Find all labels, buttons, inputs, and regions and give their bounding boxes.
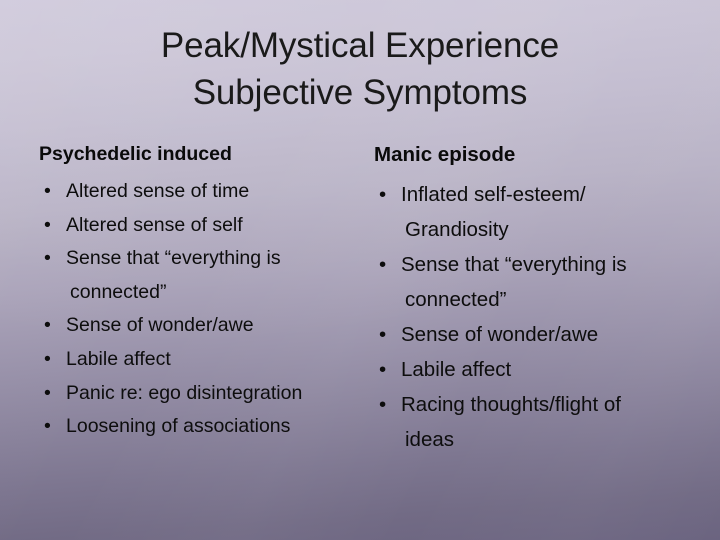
list-item-line-1: Inflated self-esteem/: [401, 183, 586, 206]
list-item-text: Sense of wonder/awe: [401, 317, 699, 352]
list-item-line-2: Grandiosity: [401, 212, 699, 247]
list-item-line-2: connected”: [401, 282, 699, 317]
slide-title: Peak/Mystical Experience Subjective Symp…: [40, 22, 680, 116]
column-header-right: Manic episode: [374, 142, 699, 167]
bullet-dot-icon: •: [44, 242, 51, 276]
bullet-dot-icon: •: [379, 247, 386, 282]
column-psychedelic-induced: Psychedelic induced • Altered sense of t…: [39, 142, 359, 444]
bullet-dot-icon: •: [44, 175, 51, 209]
list-item-text: Labile affect: [401, 352, 699, 387]
list-item-text: Loosening of associations: [66, 410, 359, 444]
bullet-list-right: • Inflated self-esteem/ Grandiosity • Se…: [374, 177, 699, 457]
list-item: • Labile affect: [39, 343, 359, 377]
bullet-dot-icon: •: [379, 177, 386, 212]
list-item: • Sense that “everything is connected”: [374, 247, 699, 317]
bullet-dot-icon: •: [379, 387, 386, 422]
list-item: • Inflated self-esteem/ Grandiosity: [374, 177, 699, 247]
bullet-dot-icon: •: [44, 309, 51, 343]
column-header-left: Psychedelic induced: [39, 142, 359, 166]
list-item-text: Altered sense of self: [66, 209, 359, 243]
list-item: • Altered sense of self: [39, 209, 359, 243]
slide-canvas: Peak/Mystical Experience Subjective Symp…: [0, 0, 720, 540]
bullet-dot-icon: •: [379, 317, 386, 352]
list-item: • Sense of wonder/awe: [374, 317, 699, 352]
bullet-dot-icon: •: [44, 377, 51, 411]
list-item: • Altered sense of time: [39, 175, 359, 209]
list-item-text: Inflated self-esteem/ Grandiosity: [401, 177, 699, 247]
list-item-text: Sense that “everything is connected”: [401, 247, 699, 317]
list-item-text: Labile affect: [66, 343, 359, 377]
list-item: • Racing thoughts/flight of ideas: [374, 387, 699, 457]
list-item-line-2: ideas: [401, 422, 699, 457]
list-item: • Loosening of associations: [39, 410, 359, 444]
column-manic-episode: Manic episode • Inflated self-esteem/ Gr…: [374, 142, 699, 457]
list-item-line-2: connected”: [66, 276, 359, 310]
list-item-text: Racing thoughts/flight of ideas: [401, 387, 699, 457]
bullet-dot-icon: •: [379, 352, 386, 387]
list-item: • Sense of wonder/awe: [39, 309, 359, 343]
bullet-dot-icon: •: [44, 343, 51, 377]
list-item: • Sense that “everything is connected”: [39, 242, 359, 309]
bullet-dot-icon: •: [44, 209, 51, 243]
list-item: • Labile affect: [374, 352, 699, 387]
list-item-line-1: Racing thoughts/flight of: [401, 393, 621, 416]
bullet-list-left: • Altered sense of time • Altered sense …: [39, 175, 359, 444]
list-item-text: Altered sense of time: [66, 175, 359, 209]
list-item: • Panic re: ego disintegration: [39, 377, 359, 411]
bullet-dot-icon: •: [44, 410, 51, 444]
list-item-line-1: Sense that “everything is: [401, 253, 627, 276]
list-item-text: Sense that “everything is connected”: [66, 242, 359, 309]
list-item-line-1: Sense that “everything is: [66, 247, 281, 269]
list-item-text: Sense of wonder/awe: [66, 309, 359, 343]
list-item-text: Panic re: ego disintegration: [66, 377, 359, 411]
